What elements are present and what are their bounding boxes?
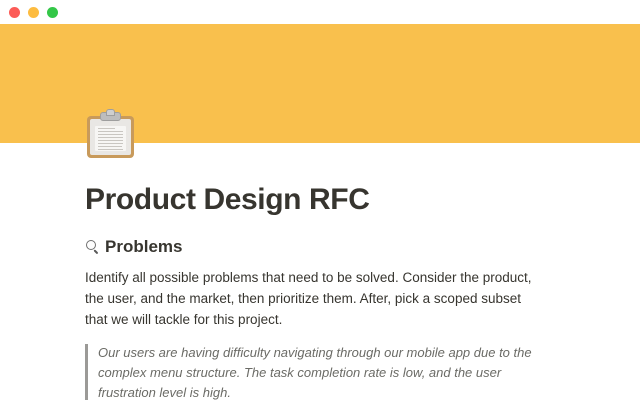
- document-content: Product Design RFC Problems Identify all…: [85, 182, 545, 400]
- clipboard-inner: [90, 119, 131, 155]
- paper-line: [98, 149, 123, 150]
- paper-line: [98, 146, 122, 147]
- section-paragraph[interactable]: Identify all possible problems that need…: [85, 267, 540, 330]
- magnifying-glass-icon: [85, 240, 100, 255]
- clipboard-body: [87, 116, 134, 158]
- blockquote-text: Our users are having difficulty navigati…: [98, 343, 545, 400]
- paper-line: [98, 131, 123, 132]
- window-titlebar: [0, 0, 640, 24]
- paper-line: [98, 128, 115, 129]
- paper-line: [98, 134, 123, 135]
- blockquote[interactable]: Our users are having difficulty navigati…: [85, 343, 545, 400]
- section-heading-label: Problems: [105, 236, 182, 258]
- paper-line: [98, 140, 123, 141]
- clipboard-icon[interactable]: [87, 112, 134, 158]
- close-window-button[interactable]: [9, 7, 20, 18]
- maximize-window-button[interactable]: [47, 7, 58, 18]
- paper-line: [98, 143, 123, 144]
- paper-line: [98, 137, 123, 138]
- page-title[interactable]: Product Design RFC: [85, 182, 545, 218]
- clipboard-paper: [95, 126, 126, 151]
- window-controls: [9, 7, 58, 18]
- magnifier-lens: [86, 240, 96, 250]
- app-window: Product Design RFC Problems Identify all…: [0, 0, 640, 400]
- blockquote-bar: [85, 344, 88, 400]
- section-heading-problems[interactable]: Problems: [85, 236, 545, 258]
- minimize-window-button[interactable]: [28, 7, 39, 18]
- clipboard-clip-knob: [106, 109, 115, 116]
- magnifier-handle: [93, 249, 98, 254]
